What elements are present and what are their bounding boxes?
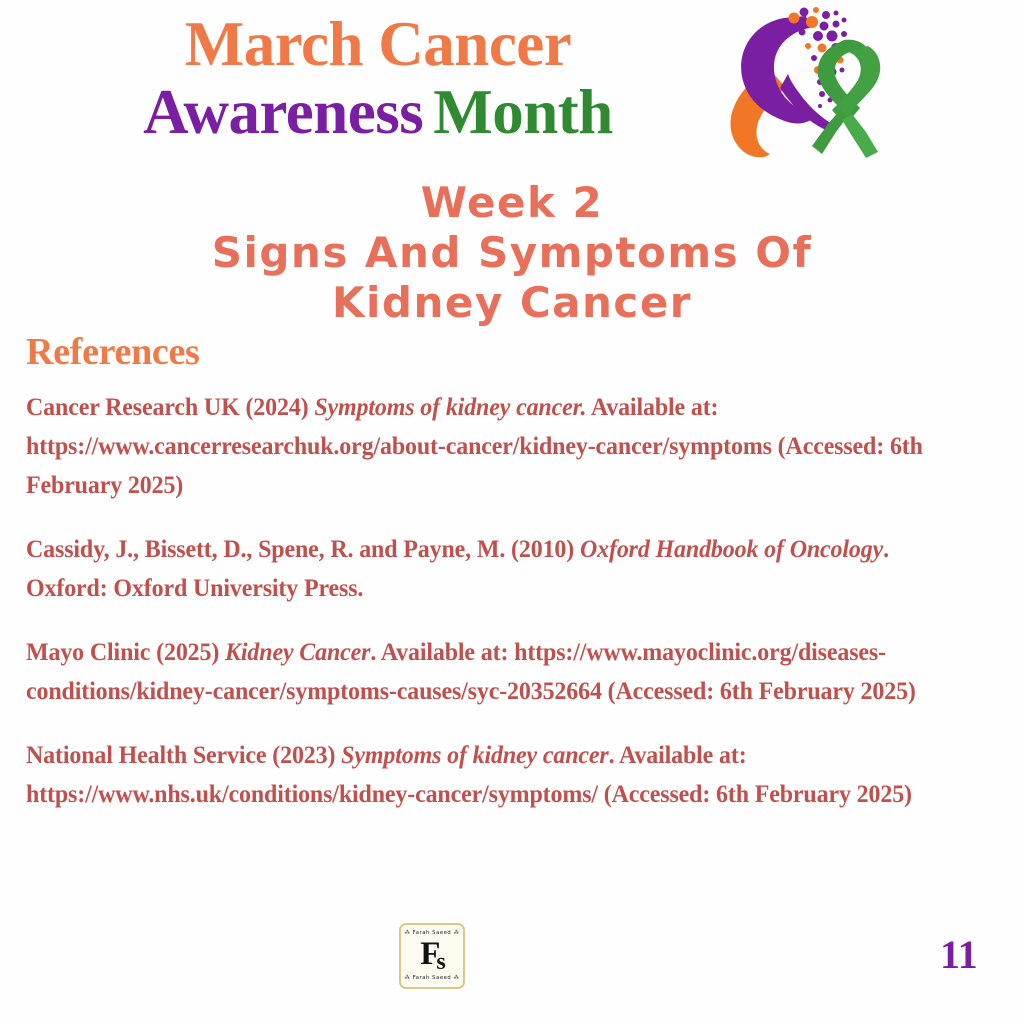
logo-monogram-f: F — [420, 936, 437, 972]
banner-header: March Cancer AwarenessMonth — [0, 0, 1024, 172]
subtitle-week: Week 2 — [0, 178, 1024, 228]
logo-monogram-s: s — [436, 949, 442, 975]
banner-word-month: Month — [423, 77, 613, 147]
subtitle-topic-line-2: Kidney Cancer — [0, 278, 1024, 328]
reference-item-nhs: National Health Service (2023) Symptoms … — [26, 735, 974, 813]
reference-author-year: National Health Service (2023) — [26, 740, 341, 769]
logo-bottom-text: ⁂ Farah Saeed ⁂ — [405, 975, 460, 982]
subtitle-topic-line-1: Signs And Symptoms Of — [0, 228, 1024, 278]
reference-item-mayo-clinic: Mayo Clinic (2025) Kidney Cancer. Availa… — [26, 632, 974, 710]
reference-title-italic: Symptoms of kidney cancer. — [314, 392, 586, 421]
banner-title-line-2: AwarenessMonth — [48, 76, 708, 148]
reference-author-year: Cancer Research UK (2024) — [26, 392, 314, 421]
references-list: Cancer Research UK (2024) Symptoms of ki… — [26, 387, 974, 813]
banner-title-line-1: March Cancer — [48, 8, 708, 80]
slide: March Cancer AwarenessMonth — [0, 0, 1024, 1024]
banner-word-awareness: Awareness — [143, 77, 423, 147]
reference-item-cassidy: Cassidy, J., Bissett, D., Spene, R. and … — [26, 529, 974, 607]
reference-title-italic: Symptoms of kidney cancer — [341, 740, 608, 769]
reference-item-cancer-research-uk: Cancer Research UK (2024) Symptoms of ki… — [26, 387, 974, 504]
references-heading: References — [26, 331, 200, 373]
reference-title-italic: Kidney Cancer — [225, 637, 370, 666]
page-number: 11 — [940, 933, 978, 977]
reference-author-year: Cassidy, J., Bissett, D., Spene, R. and … — [26, 534, 580, 563]
farah-saeed-logo: ⁂ Farah Saeed ⁂ Fs ⁂ Farah Saeed ⁂ — [399, 923, 465, 989]
reference-title-italic: Oxford Handbook of Oncology — [580, 534, 883, 563]
awareness-ribbons-icon — [708, 2, 883, 162]
banner-title-block: March Cancer AwarenessMonth — [48, 8, 708, 148]
reference-author-year: Mayo Clinic (2025) — [26, 637, 225, 666]
subtitle-block: Week 2 Signs And Symptoms Of Kidney Canc… — [0, 178, 1024, 328]
logo-monogram: Fs — [420, 938, 444, 974]
